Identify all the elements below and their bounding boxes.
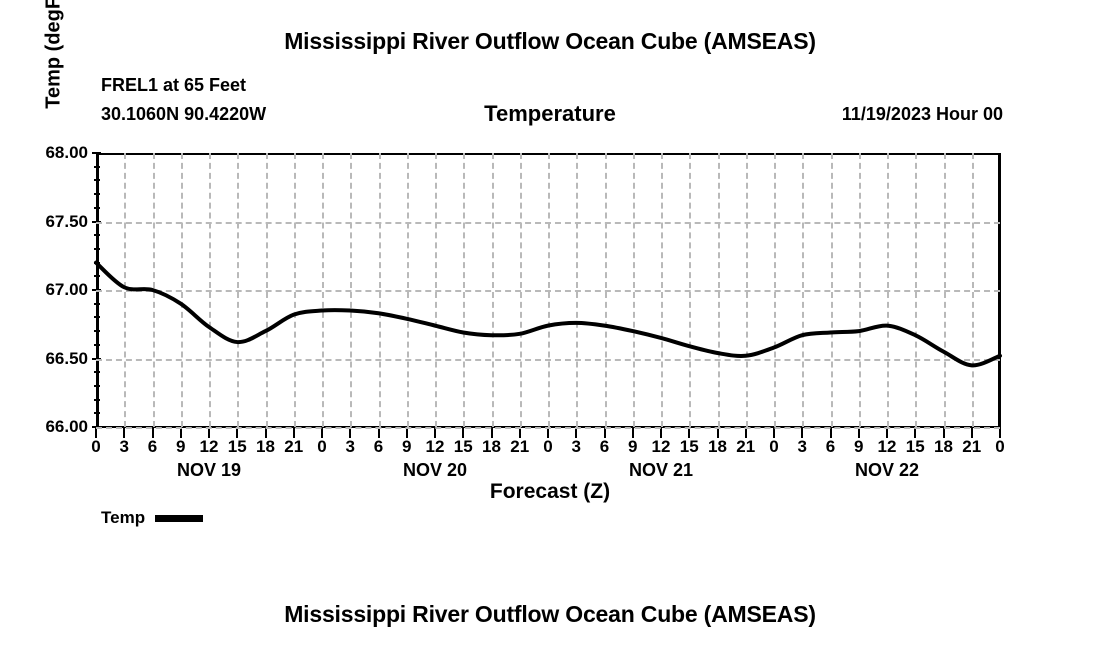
x-axis-tick-label: 0 bbox=[995, 437, 1004, 457]
x-axis-tick-label: 3 bbox=[120, 437, 129, 457]
x-axis-tick-label: 18 bbox=[482, 437, 501, 457]
x-axis-tick-label: 0 bbox=[769, 437, 778, 457]
x-axis-tick-label: 15 bbox=[906, 437, 925, 457]
chart-page: Mississippi River Outflow Ocean Cube (AM… bbox=[0, 0, 1100, 650]
x-axis-tick-label: 18 bbox=[256, 437, 275, 457]
x-axis-tick-label: 9 bbox=[628, 437, 637, 457]
temperature-curve-path bbox=[96, 263, 1000, 366]
x-axis-tick-label: 9 bbox=[176, 437, 185, 457]
x-axis-tick-label: 15 bbox=[680, 437, 699, 457]
x-axis-day-label: NOV 22 bbox=[855, 460, 919, 481]
y-axis-tick-label: 66.00 bbox=[45, 417, 88, 437]
x-axis-tick-label: 0 bbox=[317, 437, 326, 457]
page-title-bottom: Mississippi River Outflow Ocean Cube (AM… bbox=[0, 601, 1100, 628]
x-axis-tick-label: 18 bbox=[708, 437, 727, 457]
x-axis-tick-label: 0 bbox=[543, 437, 552, 457]
x-axis-tick-label: 21 bbox=[284, 437, 303, 457]
y-axis-tick-label: 67.00 bbox=[45, 280, 88, 300]
y-axis-tick-label: 68.00 bbox=[45, 143, 88, 163]
x-axis-day-label: NOV 19 bbox=[177, 460, 241, 481]
x-axis-tick-label: 3 bbox=[572, 437, 581, 457]
x-axis-day-label: NOV 20 bbox=[403, 460, 467, 481]
y-axis-title: Temp (degF) bbox=[43, 0, 66, 150]
station-label: FREL1 at 65 Feet bbox=[101, 75, 246, 96]
x-axis-tick-label: 12 bbox=[878, 437, 897, 457]
x-axis-day-label: NOV 21 bbox=[629, 460, 693, 481]
x-axis-title: Forecast (Z) bbox=[0, 480, 1100, 504]
x-axis-tick-label: 12 bbox=[426, 437, 445, 457]
temperature-line-series bbox=[96, 153, 1000, 427]
x-axis-tick-label: 9 bbox=[854, 437, 863, 457]
x-axis-tick-label: 6 bbox=[148, 437, 157, 457]
plot-area bbox=[96, 153, 1000, 427]
x-axis-tick-label: 6 bbox=[826, 437, 835, 457]
x-axis-tick-label: 3 bbox=[798, 437, 807, 457]
x-axis-tick-label: 15 bbox=[454, 437, 473, 457]
x-axis-tick-label: 9 bbox=[402, 437, 411, 457]
x-axis-tick-label: 3 bbox=[346, 437, 355, 457]
x-axis-tick-label: 0 bbox=[91, 437, 100, 457]
x-axis-tick-label: 21 bbox=[962, 437, 981, 457]
legend-label-temp: Temp bbox=[101, 508, 145, 528]
x-axis-tick-label: 12 bbox=[652, 437, 671, 457]
x-axis-tick-label: 18 bbox=[934, 437, 953, 457]
x-axis-tick-label: 21 bbox=[510, 437, 529, 457]
legend-swatch-temp bbox=[155, 515, 203, 522]
x-axis-tick-label: 6 bbox=[600, 437, 609, 457]
y-axis-tick-label: 66.50 bbox=[45, 349, 88, 369]
page-title-top: Mississippi River Outflow Ocean Cube (AM… bbox=[0, 28, 1100, 55]
x-axis-tick-label: 12 bbox=[200, 437, 219, 457]
model-run-label: 11/19/2023 Hour 00 bbox=[842, 104, 1003, 125]
x-axis-tick-label: 6 bbox=[374, 437, 383, 457]
gridline-horizontal bbox=[96, 427, 1000, 429]
y-axis-tick-label: 67.50 bbox=[45, 212, 88, 232]
x-axis-tick-label: 21 bbox=[736, 437, 755, 457]
legend: Temp bbox=[101, 508, 203, 528]
x-axis-tick-label: 15 bbox=[228, 437, 247, 457]
